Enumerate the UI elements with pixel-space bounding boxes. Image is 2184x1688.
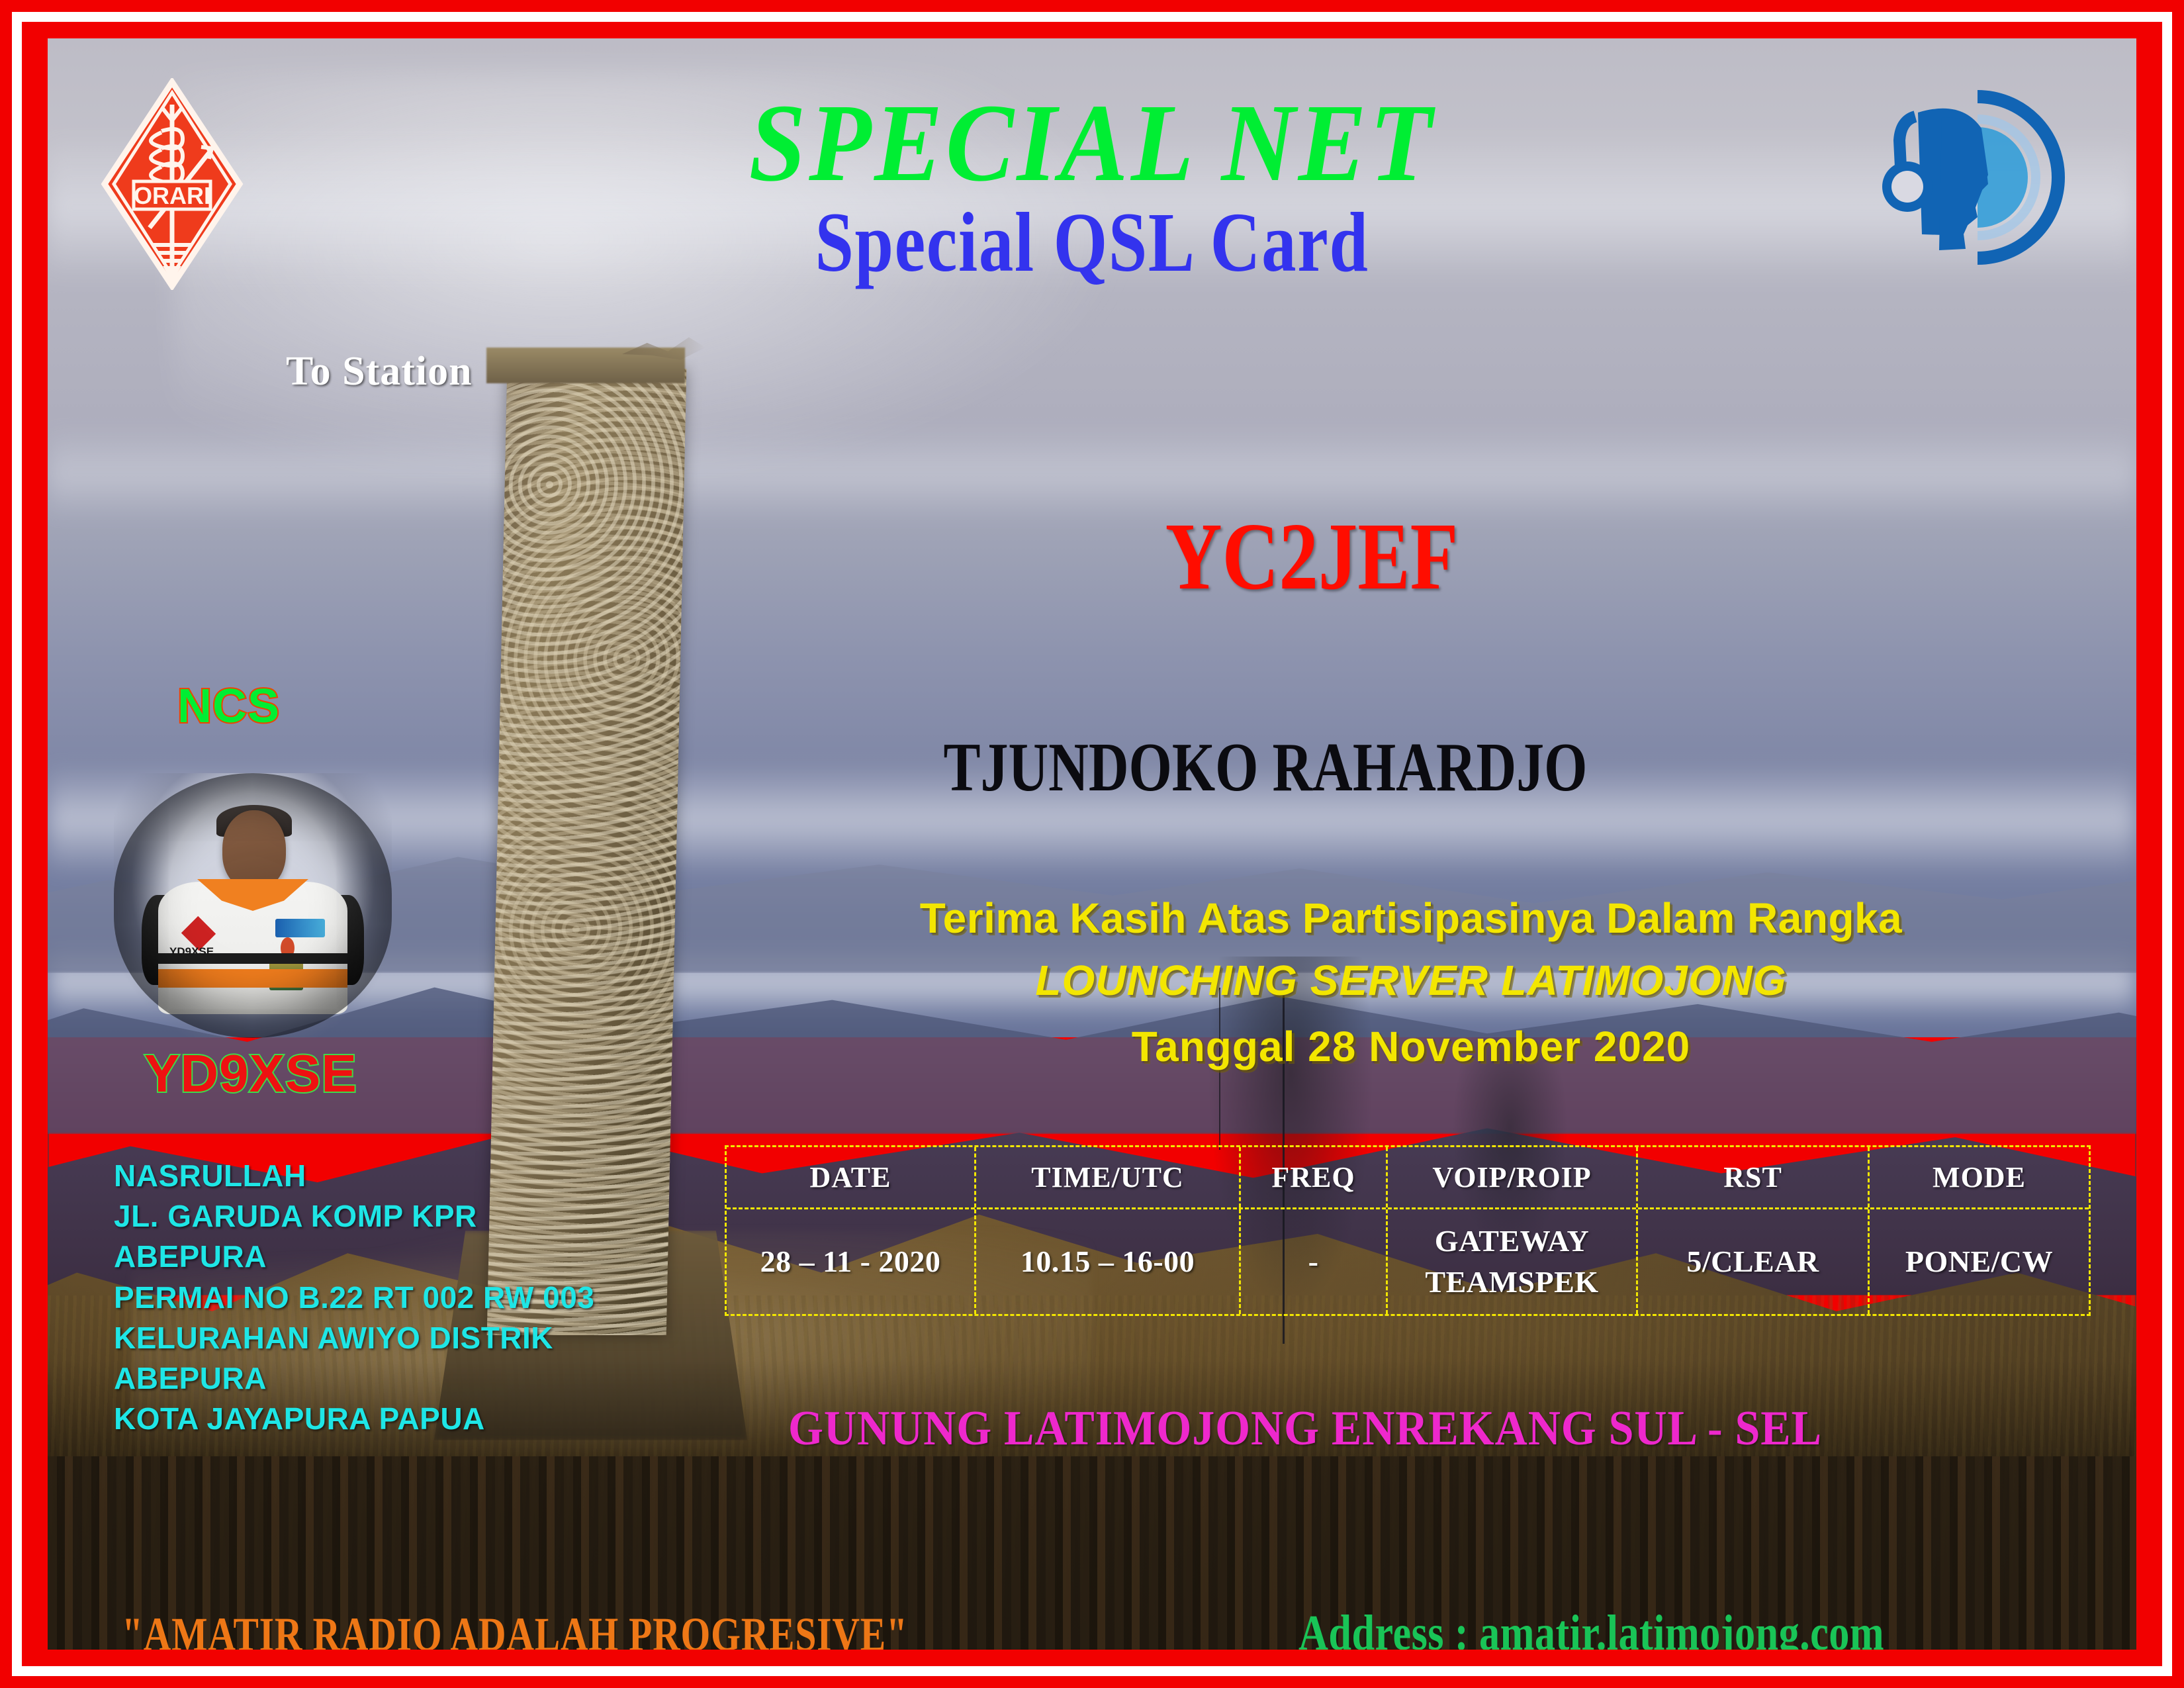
address-line: KELURAHAN AWIYO DISTRIK	[114, 1318, 594, 1358]
ncs-callsign: YD9XSE	[144, 1043, 357, 1104]
ncs-address-block: NASRULLAH JL. GARUDA KOMP KPR ABEPURA PE…	[114, 1156, 594, 1439]
photo-vignette	[114, 773, 392, 1038]
table-cell-date: 28 – 11 - 2020	[727, 1209, 976, 1314]
footer-motto: "AMATIR RADIO ADALAH PROGRESIVE"	[122, 1607, 908, 1650]
table-header-row: DATE TIME/UTC FREQ VOIP/ROIP RST MODE	[727, 1147, 2089, 1207]
table-header-mode: MODE	[1870, 1147, 2089, 1207]
thank-you-block: Terima Kasih Atas Partisipasinya Dalam R…	[729, 894, 2093, 1071]
card-overlay-content: ORARI	[48, 38, 2136, 1650]
address-line: NASRULLAH	[114, 1156, 594, 1196]
table-cell-time-utc: 10.15 – 16-00	[976, 1209, 1241, 1314]
address-line: KOTA JAYAPURA PAPUA	[114, 1399, 594, 1439]
table-header-voip-roip: VOIP/ROIP	[1388, 1147, 1638, 1207]
thanks-line-2-event: LOUNCHING SERVER LATIMOJONG	[729, 956, 2093, 1005]
page-subtitle-special-qsl-card: Special QSL Card	[236, 194, 1948, 291]
to-station-label: To Station	[286, 348, 473, 395]
recipient-callsign: YC2JEF	[1068, 502, 1556, 612]
qsl-card-outer-border: ORARI	[0, 0, 2184, 1688]
location-line: GUNUNG LATIMOJONG ENREKANG SUL - SEL	[696, 1401, 1914, 1457]
table-header-rst: RST	[1638, 1147, 1870, 1207]
address-line: JL. GARUDA KOMP KPR	[114, 1196, 594, 1237]
table-cell-mode: PONE/CW	[1870, 1209, 2089, 1314]
operator-name: TJUNDOKO RAHARDJO	[916, 727, 1615, 807]
thanks-line-1: Terima Kasih Atas Partisipasinya Dalam R…	[729, 894, 2093, 943]
table-cell-voip-roip: GATEWAY TEAMSPEK	[1388, 1209, 1638, 1314]
qsl-card-photo-area: ORARI	[48, 38, 2136, 1650]
qso-details-table: DATE TIME/UTC FREQ VOIP/ROIP RST MODE 28…	[725, 1145, 2091, 1316]
address-line: ABEPURA	[114, 1237, 594, 1277]
table-header-time-utc: TIME/UTC	[976, 1147, 1241, 1207]
ncs-label: NCS	[177, 679, 280, 733]
address-line: PERMAI NO B.22 RT 002 RW 003	[114, 1278, 594, 1318]
table-header-freq: FREQ	[1241, 1147, 1388, 1207]
table-header-date: DATE	[727, 1147, 976, 1207]
table-row: 28 – 11 - 2020 10.15 – 16-00 - GATEWAY T…	[727, 1207, 2089, 1314]
page-title-special-net: SPECIAL NET	[131, 79, 2053, 207]
thanks-line-3-date: Tanggal 28 November 2020	[729, 1022, 2093, 1071]
table-cell-freq: -	[1241, 1209, 1388, 1314]
address-line: ABEPURA	[114, 1358, 594, 1399]
operator-photo: YD9XSE	[114, 773, 392, 1038]
footer-website-address: Address : amatir.latimojong.com	[1298, 1605, 1884, 1650]
table-cell-rst: 5/CLEAR	[1638, 1209, 1870, 1314]
